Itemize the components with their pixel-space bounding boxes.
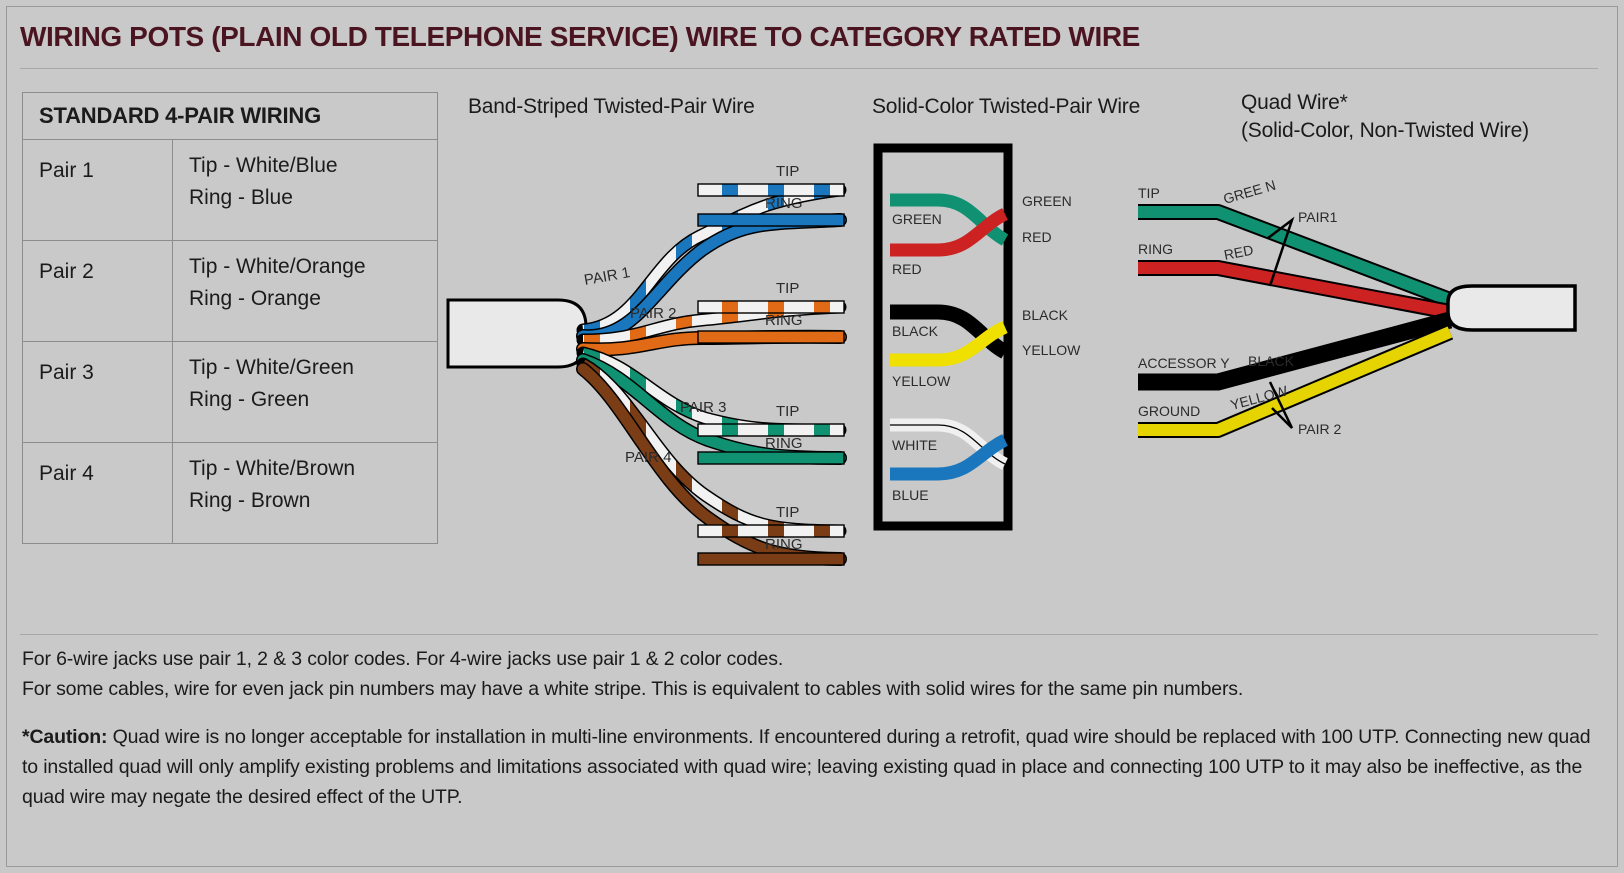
pair-1-label: PAIR 1 [583,264,632,289]
table-row: Pair 4 Tip - White/Brown Ring - Brown [23,443,438,544]
pair-4-ring-label: RING [765,536,803,553]
quad-accessory-label: ACCESSOR Y [1138,355,1230,371]
pair-colors: Tip - White/Blue Ring - Blue [173,140,438,241]
pair-name: Pair 4 [23,443,173,544]
caution-text: Quad wire is no longer acceptable for in… [22,726,1591,808]
pair-4-tip-label: TIP [776,504,799,521]
quad-green-label: GREE N [1221,177,1277,207]
pair-2-ring-label: RING [765,312,803,329]
pair-colors: Tip - White/Orange Ring - Orange [173,241,438,342]
pair-name: Pair 2 [23,241,173,342]
heading-quad-wire: Quad Wire* (Solid-Color, Non-Twisted Wir… [1241,89,1529,145]
title-bar: WIRING POTS (PLAIN OLD TELEPHONE SERVICE… [20,20,1590,64]
label-red-inside: RED [892,261,922,277]
quad-pair2-label: PAIR 2 [1298,421,1342,437]
cable-jacket [448,300,586,367]
caution-note: *Caution: Quad wire is no longer accepta… [22,722,1594,812]
note-line-2: For some cables, wire for even jack pin … [22,674,1594,704]
quad-cable-jacket [1448,286,1575,330]
quad-ring-label: RING [1138,241,1173,257]
pair-3-label: PAIR 3 [680,399,726,416]
title-divider [20,68,1598,69]
white-blue-pair: WHITE BLUE [890,425,1005,503]
heading-solid-color: Solid-Color Twisted-Pair Wire [872,93,1140,121]
table-row: Pair 3 Tip - White/Green Ring - Green [23,342,438,443]
pair-colors: Tip - White/Brown Ring - Brown [173,443,438,544]
pair-colors: Tip - White/Green Ring - Green [173,342,438,443]
quad-tip-label: TIP [1138,185,1160,201]
quad-black-label: BLACK [1248,353,1295,369]
pair-3-ring-label: RING [765,435,803,452]
table-row: Pair 2 Tip - White/Orange Ring - Orange [23,241,438,342]
ring-color: Ring - Orange [189,283,437,315]
table-header-row: STANDARD 4-PAIR WIRING [23,93,438,140]
ring-color: Ring - Blue [189,182,437,214]
footer-notes: For 6-wire jacks use pair 1, 2 & 3 color… [22,644,1594,812]
pair-2-label: PAIR 2 [630,305,676,322]
heading-quad-line1: Quad Wire* [1241,89,1529,117]
label-yellow-outside: YELLOW [1022,342,1081,358]
quad-wire-diagram: TIP GREE N RING RED PAIR1 ACCESSOR Y BLA… [1120,160,1580,450]
pair-2-tip-label: TIP [776,280,799,297]
label-green-outside: GREEN [1022,193,1072,209]
tip-color: Tip - White/Orange [189,251,437,283]
black-yellow-pair: BLACK YELLOW BLACK YELLOW [890,307,1081,389]
ring-color: Ring - Green [189,384,437,416]
pair-3-tip-label: TIP [776,403,799,420]
table-row: Pair 1 Tip - White/Blue Ring - Blue [23,140,438,241]
band-striped-wire-diagram: PAIR 1 TIP RING PAIR 2 TIP RING PAIR 3 T… [440,140,910,610]
footer-divider [20,634,1598,635]
ring-color: Ring - Brown [189,485,437,517]
wiring-diagram-page: WIRING POTS (PLAIN OLD TELEPHONE SERVICE… [0,0,1624,873]
label-red-outside: RED [1022,229,1052,245]
label-blue-inside: BLUE [892,487,929,503]
tip-color: Tip - White/Green [189,352,437,384]
page-title: WIRING POTS (PLAIN OLD TELEPHONE SERVICE… [20,20,1590,54]
pair-4-label: PAIR 4 [625,449,671,466]
label-white-inside: WHITE [892,437,937,453]
pair-name: Pair 3 [23,342,173,443]
table-header-label: STANDARD 4-PAIR WIRING [23,93,438,140]
label-black-outside: BLACK [1022,307,1069,323]
standard-4-pair-wiring-table: STANDARD 4-PAIR WIRING Pair 1 Tip - Whit… [22,92,438,544]
tip-color: Tip - White/Blue [189,150,437,182]
quad-red-label: RED [1223,242,1255,263]
heading-quad-line2: (Solid-Color, Non-Twisted Wire) [1241,117,1529,145]
pair-1-tip-label: TIP [776,163,799,180]
note-line-1: For 6-wire jacks use pair 1, 2 & 3 color… [22,644,1594,674]
caution-label: *Caution: [22,726,107,748]
label-green-inside: GREEN [892,211,942,227]
tip-color: Tip - White/Brown [189,453,437,485]
quad-pair1-label: PAIR1 [1298,209,1338,225]
heading-band-striped: Band-Striped Twisted-Pair Wire [468,93,755,121]
solid-color-wire-diagram: GREEN RED GREEN RED BLACK YELLOW BLACK Y… [860,140,1120,540]
label-yellow-inside: YELLOW [892,373,951,389]
quad-ground-label: GROUND [1138,403,1200,419]
label-black-inside: BLACK [892,323,939,339]
pair-name: Pair 1 [23,140,173,241]
green-red-pair: GREEN RED GREEN RED [890,193,1072,277]
pair-1-ring-label: RING [765,195,803,212]
